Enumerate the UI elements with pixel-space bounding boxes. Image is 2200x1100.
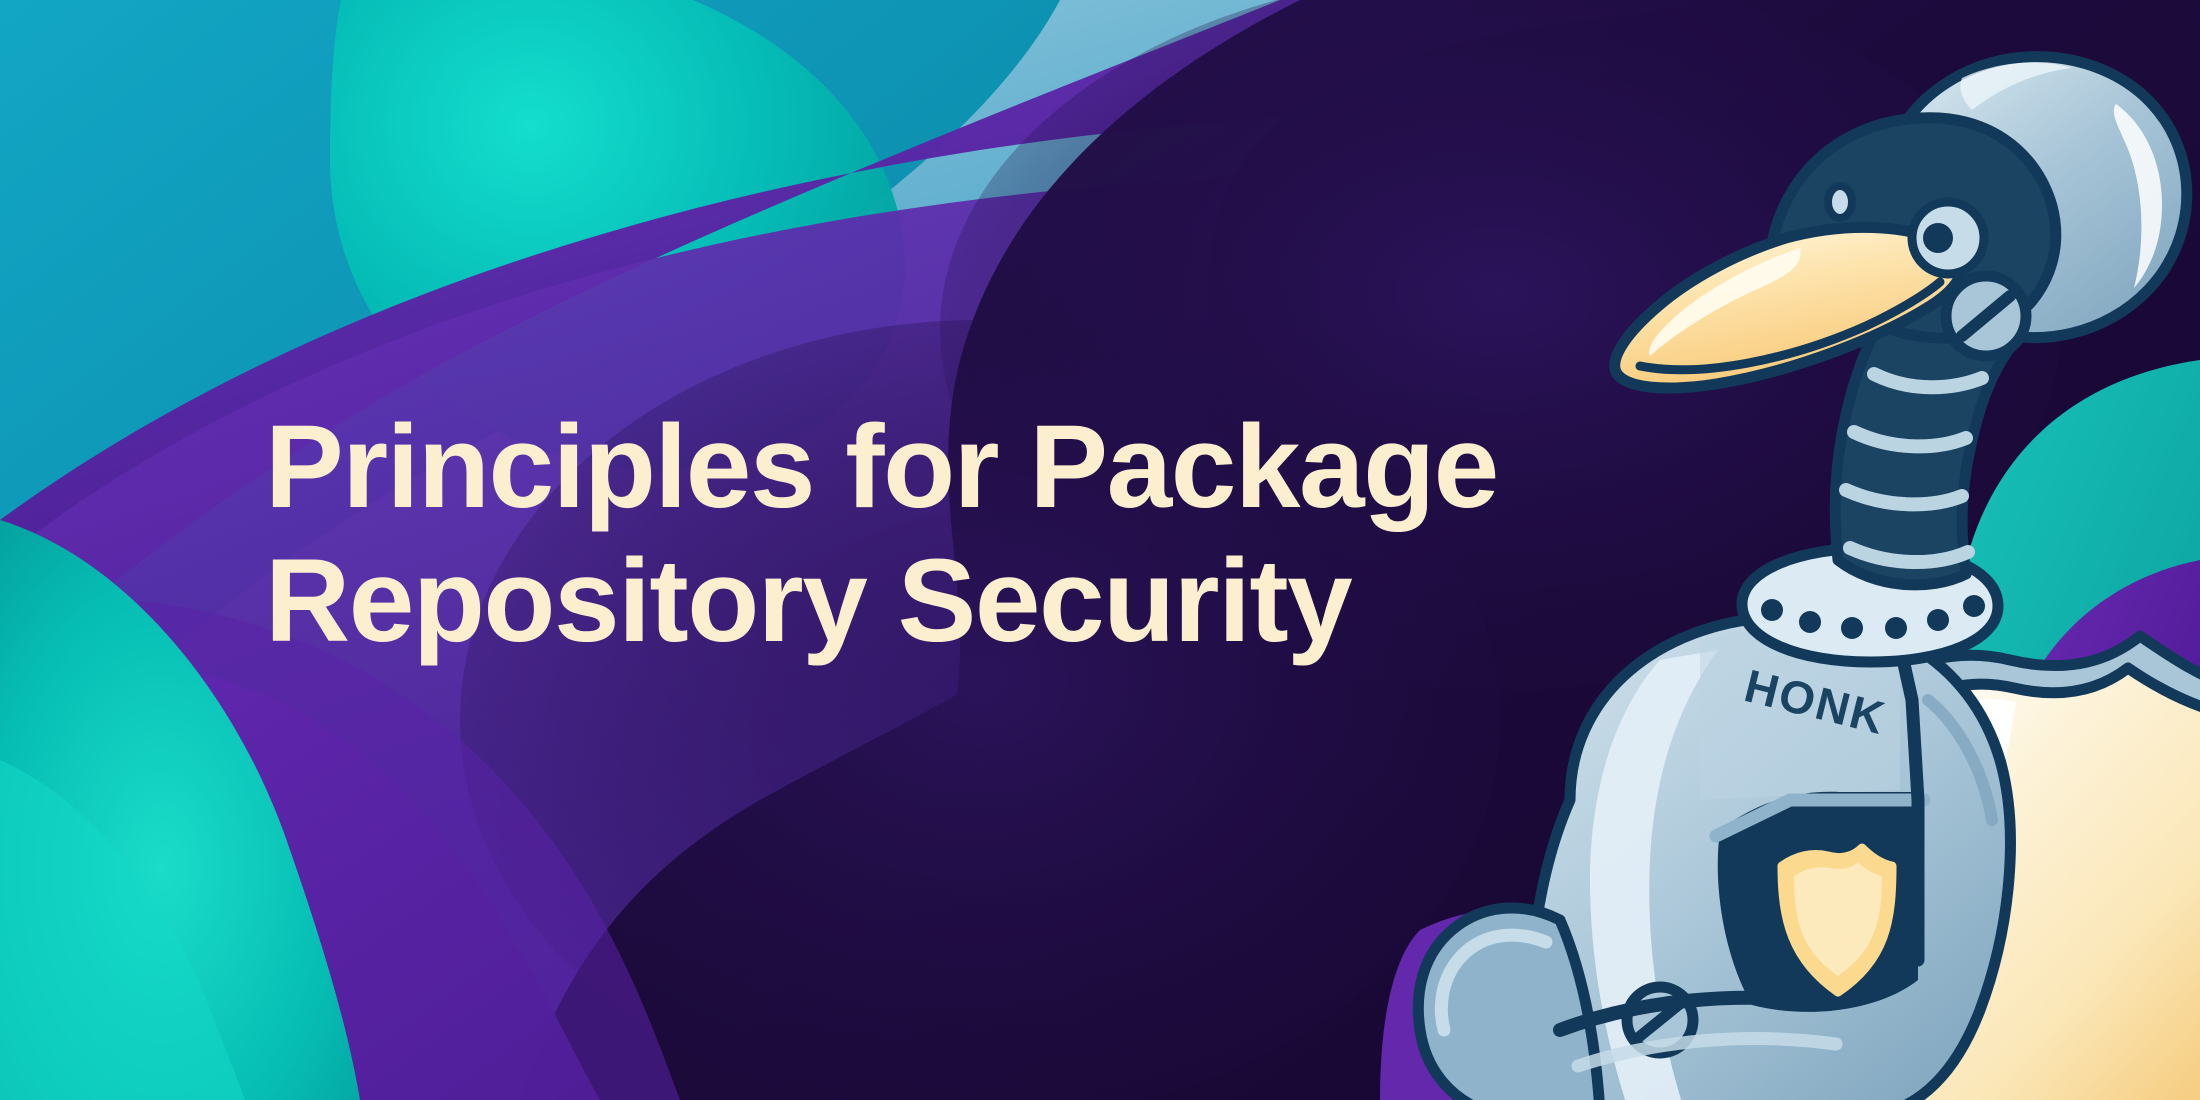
goose-pupil (1923, 223, 1953, 253)
goose-eye-far (1828, 186, 1852, 218)
banner-hero: Principles for Package Repository Securi… (0, 0, 2200, 1100)
title-line-1: Principles for Package (265, 400, 1565, 534)
title-line-2: Repository Security (265, 534, 1565, 668)
page-title: Principles for Package Repository Securi… (265, 400, 1565, 668)
